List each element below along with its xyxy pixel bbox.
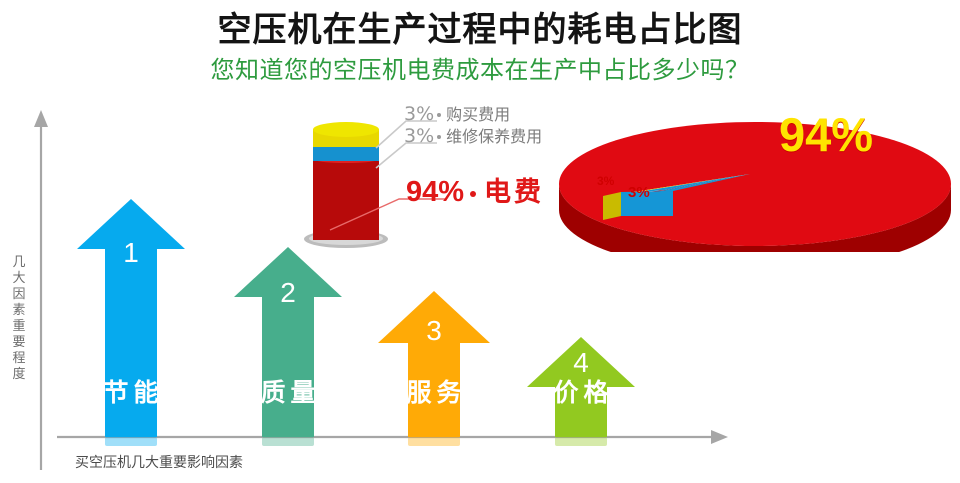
arrow-shape-icon xyxy=(378,291,490,437)
callout-purchase-pct: 3% xyxy=(404,103,434,125)
callout-maintenance: 3%维修保养费用 xyxy=(404,123,542,147)
callout-electricity: 94%电费 xyxy=(406,170,544,209)
arrow-reflection xyxy=(555,437,607,446)
factor-label-4: 价格 xyxy=(527,373,635,409)
pie-label-electricity: 94% xyxy=(779,107,873,162)
cost-pie-chart[interactable]: 94% 3% 3% xyxy=(545,112,955,252)
callout-purchase: 3%购买费用 xyxy=(404,101,510,125)
cost-cylinder-chart[interactable] xyxy=(313,122,379,240)
factor-rank-2: 2 xyxy=(234,277,342,309)
callout-electricity-pct: 94% xyxy=(406,176,464,208)
callout-maintenance-label: 维修保养费用 xyxy=(446,127,542,146)
y-axis-label: 几大因素重要程度 xyxy=(8,255,30,383)
cylinder-top-cap xyxy=(313,122,379,137)
pie-label-maintenance: 3% xyxy=(628,184,650,201)
factor-rank-3: 3 xyxy=(378,315,490,347)
callout-maintenance-pct: 3% xyxy=(404,125,434,147)
callout-purchase-label: 购买费用 xyxy=(446,105,510,124)
callout-electricity-label: 电费 xyxy=(484,177,544,208)
callout-dot-icon xyxy=(437,135,441,139)
arrow-reflection xyxy=(105,437,157,446)
factor-label-1: 节能 xyxy=(77,373,185,409)
factor-label-3: 服务 xyxy=(378,373,490,409)
callout-dot-icon xyxy=(437,113,441,117)
infographic-canvas: 空压机在生产过程中的耗电占比图 您知道您的空压机电费成本在生产中占比多少吗？ 几… xyxy=(0,0,960,483)
x-axis-label: 买空压机几大重要影响因素 xyxy=(75,452,243,472)
pie-label-purchase: 3% xyxy=(597,174,614,188)
factor-rank-1: 1 xyxy=(77,237,185,269)
factor-arrow-4[interactable]: 4 价格 xyxy=(527,337,635,437)
factor-arrow-3[interactable]: 3 服务 xyxy=(378,291,490,437)
factor-label-2: 质量 xyxy=(234,373,342,409)
page-subtitle: 您知道您的空压机电费成本在生产中占比多少吗？ xyxy=(0,50,960,85)
factor-arrow-1[interactable]: 1 节能 xyxy=(77,199,185,437)
arrow-reflection xyxy=(262,437,314,446)
arrow-reflection xyxy=(408,437,460,446)
callout-dot-icon xyxy=(470,191,476,197)
page-title: 空压机在生产过程中的耗电占比图 xyxy=(0,2,960,51)
factor-arrow-2[interactable]: 2 质量 xyxy=(234,247,342,437)
